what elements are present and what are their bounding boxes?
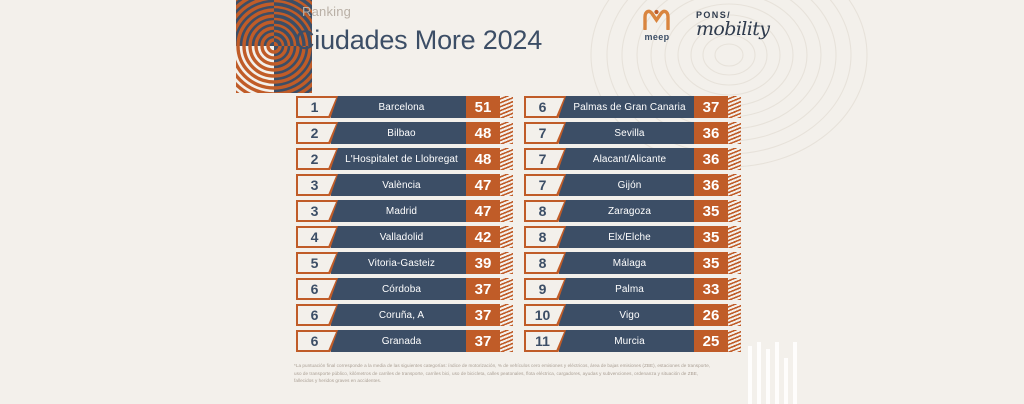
logo-group: meep PONS/ mobility [634,8,774,42]
rank-number: 8 [539,204,547,218]
city-name: Córdoba [331,278,466,300]
city-score: 35 [694,226,728,248]
city-name: Madrid [331,200,466,222]
meep-logo: meep [634,8,680,42]
rank-number: 8 [539,256,547,270]
rank-number: 1 [311,100,319,114]
city-name: Málaga [559,252,694,274]
city-name: L'Hospitalet de Llobregat [331,148,466,170]
rank-number: 3 [311,204,319,218]
city-score: 33 [694,278,728,300]
city-name: Gijón [559,174,694,196]
rank-number: 2 [311,152,319,166]
city-name: Coruña, A [331,304,466,326]
rank-number: 6 [311,334,319,348]
rank-number: 2 [311,126,319,140]
table-row[interactable]: 8 Málaga 35 [524,252,728,274]
ranking-column-right: 6 Palmas de Gran Canaria 37 7 Sevilla 36… [524,96,728,356]
rank-number: 11 [535,334,550,348]
table-row[interactable]: 7 Alacant/Alicante 36 [524,148,728,170]
city-name: Alacant/Alicante [559,148,694,170]
rank-number: 7 [539,178,547,192]
rank-number: 7 [539,126,547,140]
city-score: 48 [466,122,500,144]
table-row[interactable]: 9 Palma 33 [524,278,728,300]
table-row[interactable]: 3 València 47 [296,174,500,196]
city-name: Palmas de Gran Canaria [559,96,694,118]
table-row[interactable]: 6 Granada 37 [296,330,500,352]
mobility-script-wordmark: mobility [696,19,774,39]
city-name: Granada [331,330,466,352]
table-row[interactable]: 8 Elx/Elche 35 [524,226,728,248]
table-row[interactable]: 2 L'Hospitalet de Llobregat 48 [296,148,500,170]
city-score: 37 [466,330,500,352]
city-name: Sevilla [559,122,694,144]
rank-number: 6 [311,282,319,296]
city-name: Barcelona [331,96,466,118]
city-score: 37 [694,96,728,118]
rank-number: 5 [311,256,319,270]
meep-wordmark: meep [634,32,680,42]
city-score: 35 [694,200,728,222]
ranking-column-left: 1 Barcelona 51 2 Bilbao 48 2 L'Hospitale… [296,96,500,356]
city-score: 51 [466,96,500,118]
background-bars-decoration [748,340,818,404]
city-score: 42 [466,226,500,248]
city-name: Vigo [559,304,694,326]
city-name: València [331,174,466,196]
city-name: Valladolid [331,226,466,248]
rank-number: 10 [535,308,551,322]
city-score: 36 [694,122,728,144]
table-row[interactable]: 7 Gijón 36 [524,174,728,196]
rank-number: 3 [311,178,319,192]
city-score: 36 [694,148,728,170]
city-score: 48 [466,148,500,170]
city-name: Palma [559,278,694,300]
city-name: Bilbao [331,122,466,144]
city-name: Zaragoza [559,200,694,222]
rank-number: 6 [311,308,319,322]
city-score: 35 [694,252,728,274]
table-row[interactable]: 11 Murcia 25 [524,330,728,352]
city-name: Murcia [559,330,694,352]
rank-number: 9 [539,282,547,296]
header: Ranking Ciudades More 2024 meep PONS/ mo… [0,0,1024,95]
table-row[interactable]: 1 Barcelona 51 [296,96,500,118]
city-score: 47 [466,200,500,222]
city-score: 26 [694,304,728,326]
rank-number: 4 [311,230,319,244]
table-row[interactable]: 3 Madrid 47 [296,200,500,222]
city-name: Vitoria-Gasteiz [331,252,466,274]
table-row[interactable]: 10 Vigo 26 [524,304,728,326]
rank-number: 6 [539,100,547,114]
city-score: 37 [466,304,500,326]
city-score: 36 [694,174,728,196]
footnote-text: *La puntuación final corresponde a la me… [294,362,718,385]
table-row[interactable]: 6 Córdoba 37 [296,278,500,300]
table-row[interactable]: 4 Valladolid 42 [296,226,500,248]
table-row[interactable]: 5 Vitoria-Gasteiz 39 [296,252,500,274]
city-score: 39 [466,252,500,274]
ranking-table: 1 Barcelona 51 2 Bilbao 48 2 L'Hospitale… [296,96,728,356]
pons-mobility-logo: PONS/ mobility [696,8,774,39]
table-row[interactable]: 6 Palmas de Gran Canaria 37 [524,96,728,118]
city-name: Elx/Elche [559,226,694,248]
table-row[interactable]: 7 Sevilla 36 [524,122,728,144]
city-score: 47 [466,174,500,196]
city-score: 25 [694,330,728,352]
city-score: 37 [466,278,500,300]
table-row[interactable]: 6 Coruña, A 37 [296,304,500,326]
table-row[interactable]: 2 Bilbao 48 [296,122,500,144]
rank-number: 8 [539,230,547,244]
meep-m-icon [642,8,672,30]
rank-number: 7 [539,152,547,166]
table-row[interactable]: 8 Zaragoza 35 [524,200,728,222]
